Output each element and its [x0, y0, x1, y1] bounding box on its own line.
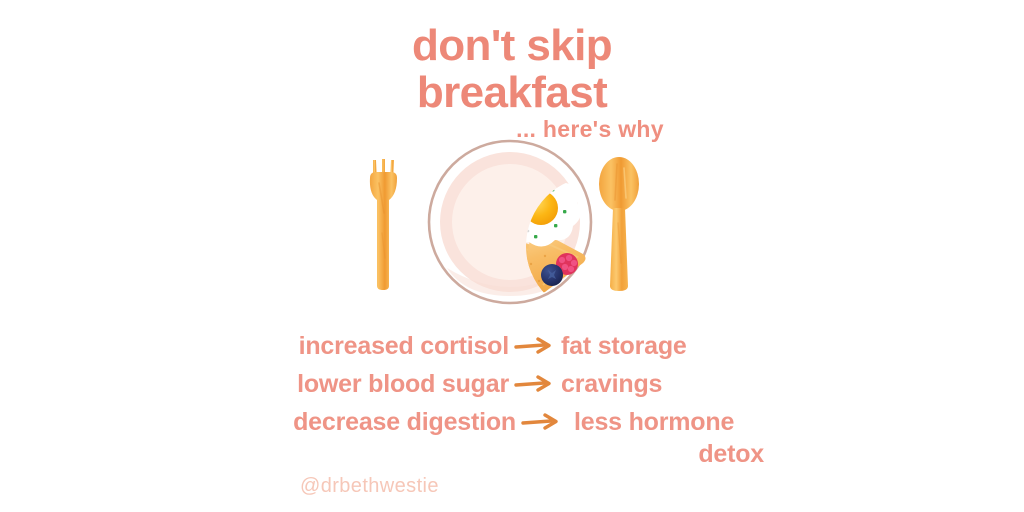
right-arrow-icon: [516, 406, 568, 438]
right-arrow-icon: [509, 330, 561, 362]
right-arrow-icon: [509, 368, 561, 400]
breakfast-plate-illustration: [355, 138, 665, 308]
reason-cause: increased cortisol: [253, 330, 509, 362]
wooden-spoon-icon: [599, 157, 639, 291]
reason-row: increased cortisol fat storage: [0, 330, 1024, 362]
author-handle: @drbethwestie: [300, 475, 439, 498]
title-line-2: breakfast: [0, 69, 1024, 116]
reasons-list: increased cortisol fat storage lower blo…: [0, 330, 1024, 476]
blueberry: [541, 264, 563, 286]
reason-effect-line-1: less hormone: [574, 406, 764, 438]
reason-row: lower blood sugar cravings: [0, 368, 1024, 400]
reason-cause: decrease digestion: [260, 406, 516, 438]
reason-effect: fat storage: [561, 330, 771, 362]
reason-effect: cravings: [561, 368, 771, 400]
title-line-1: don't skip: [0, 22, 1024, 69]
reason-effect: less hormone detox: [568, 406, 764, 470]
reason-row: decrease digestion less hormone detox: [0, 406, 1024, 470]
page-title: don't skip breakfast: [0, 22, 1024, 116]
reason-effect-line-2: detox: [574, 438, 764, 470]
reason-cause: lower blood sugar: [253, 368, 509, 400]
poster-canvas: don't skip breakfast ... here's why: [0, 0, 1024, 512]
wooden-fork-icon: [370, 159, 397, 290]
